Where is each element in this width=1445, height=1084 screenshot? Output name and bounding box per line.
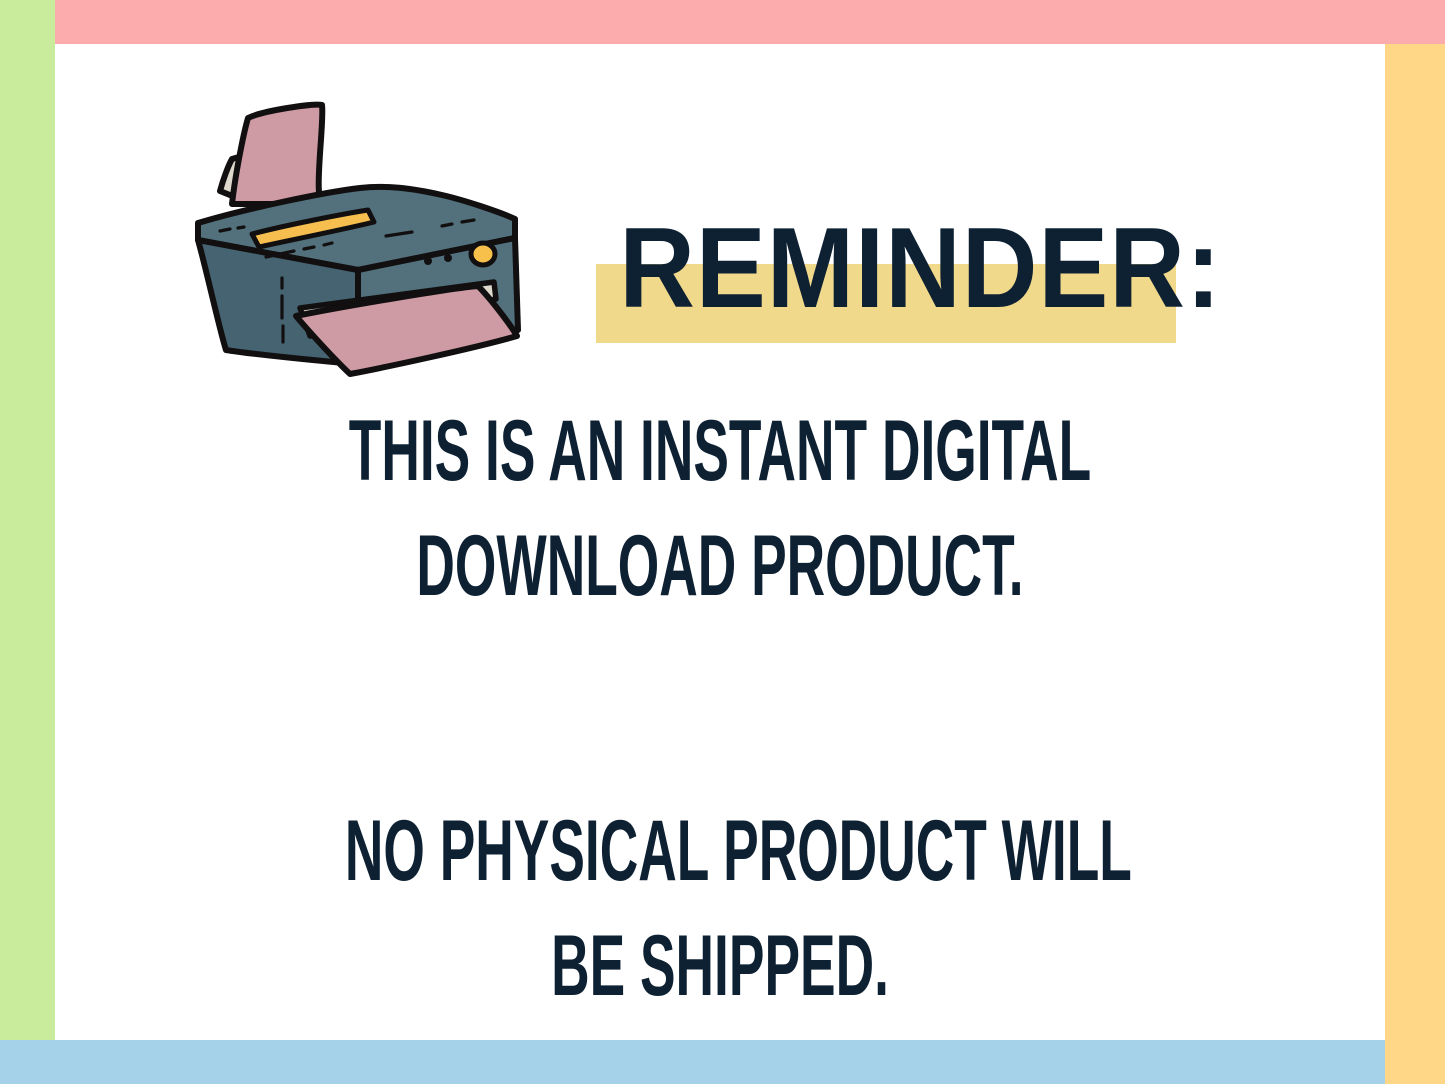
printer-illustration-svg xyxy=(190,92,550,402)
printer-power-button[interactable] xyxy=(471,243,495,265)
body-copy: THIS IS AN INSTANT DIGITAL DOWNLOAD PROD… xyxy=(115,394,1325,1024)
printer-icon xyxy=(190,92,550,402)
decor-band-right-yellow xyxy=(1385,44,1445,1084)
poster-canvas: REMINDER: THIS IS AN INSTANT DIGITAL DOW… xyxy=(0,0,1445,1084)
decor-band-left-green xyxy=(0,0,55,1040)
page-title: REMINDER: xyxy=(619,204,1153,334)
decor-band-bottom-blue xyxy=(0,1040,1385,1084)
body-line-2: DOWNLOAD PRODUCT. xyxy=(345,509,1095,624)
printer-input-paper xyxy=(232,105,322,204)
printer-indicator-dot-1 xyxy=(444,254,452,262)
decor-band-top-pink xyxy=(55,0,1445,44)
printer-indicator-dot-2 xyxy=(424,257,432,265)
body-line-3: NO PHYSICAL PRODUCT WILL xyxy=(345,794,1095,909)
content-area: REMINDER: THIS IS AN INSTANT DIGITAL DOW… xyxy=(55,44,1385,1040)
body-line-4: BE SHIPPED. xyxy=(345,909,1095,1024)
heading-block: REMINDER: xyxy=(596,204,1186,394)
body-line-1: THIS IS AN INSTANT DIGITAL xyxy=(345,394,1095,509)
